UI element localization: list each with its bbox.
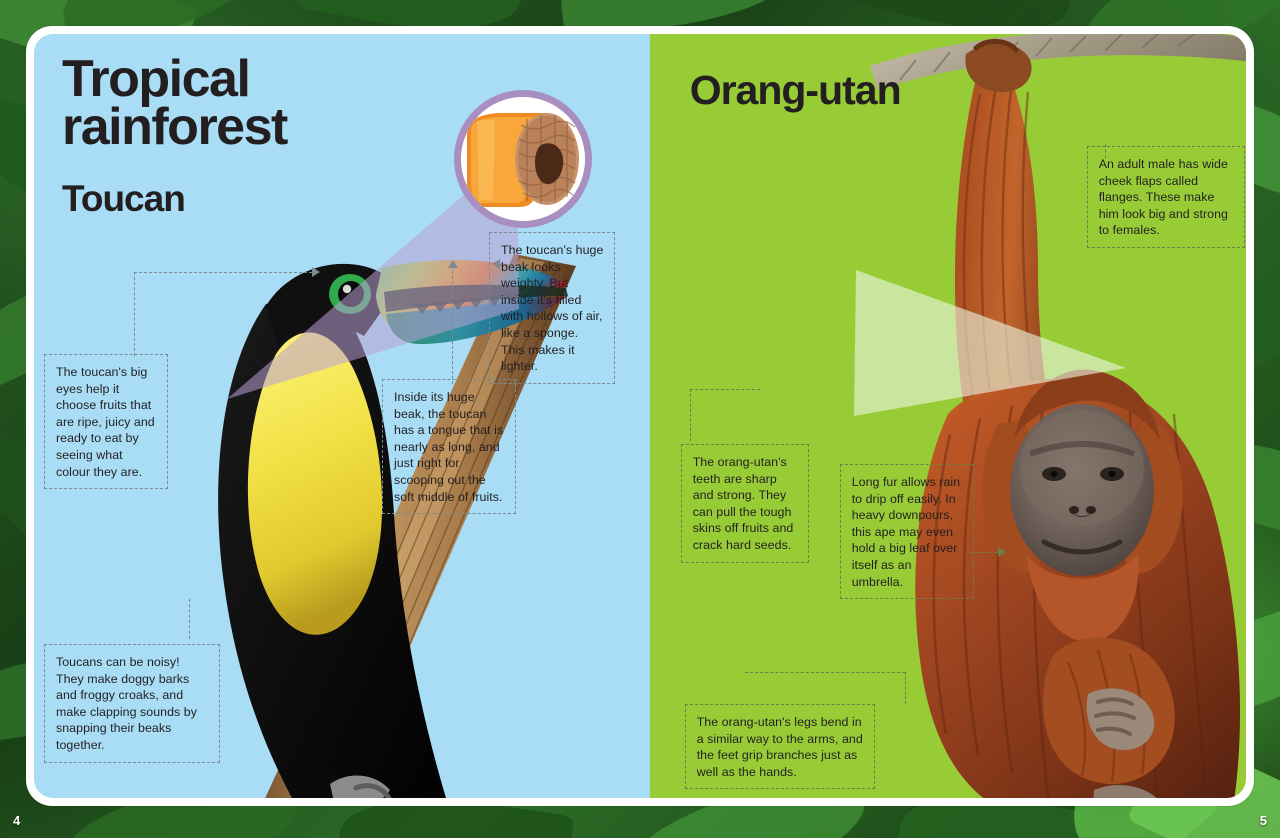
connector-eyes [134,272,312,273]
page-number-left: 4 [13,813,20,828]
callout-text: The toucan's huge beak looks weighty. Bu… [501,243,603,373]
connector-eyes-vertical [134,272,135,356]
callout-text: The orang-utan's legs bend in a similar … [697,715,863,779]
left-page-tropical-rainforest: The toucan's big eyes help it choose fru… [34,34,650,798]
callout-toucan-eyes[interactable]: The toucan's big eyes help it choose fru… [44,354,168,489]
callout-toucan-tongue[interactable]: Inside its huge beak, the toucan has a t… [382,379,516,514]
right-page-orang-utan: An adult male has wide cheek flaps calle… [650,34,1246,798]
connector-tongue-vertical [452,266,453,384]
callout-text: An adult male has wide cheek flaps calle… [1099,157,1228,237]
callout-orangutan-flanges[interactable]: An adult male has wide cheek flaps calle… [1087,146,1245,248]
callout-toucan-beak-weight[interactable]: The toucan's huge beak looks weighty. Bu… [489,232,615,384]
page-subtitle-toucan: Toucan [62,182,185,216]
page-number-right: 5 [1260,813,1267,828]
teeth-magnifier-cone [850,264,1130,434]
beak-cross-section-inset [454,90,592,228]
callout-text: Toucans can be noisy! They make doggy ba… [56,655,197,752]
pages-container: The toucan's big eyes help it choose fru… [34,34,1246,798]
callout-orangutan-legs[interactable]: The orang-utan's legs bend in a similar … [685,704,875,789]
arrowhead-tongue [448,260,458,268]
callout-text: Inside its huge beak, the toucan has a t… [394,390,503,504]
callout-text: The orang-utan's teeth are sharp and str… [693,455,794,552]
callout-text: The toucan's big eyes help it choose fru… [56,365,155,479]
callout-orangutan-teeth[interactable]: The orang-utan's teeth are sharp and str… [681,444,809,563]
book-spread: The toucan's big eyes help it choose fru… [0,0,1280,838]
page-title-orang-utan: Orang-utan [690,72,901,110]
callout-toucan-noise[interactable]: Toucans can be noisy! They make doggy ba… [44,644,220,763]
arrowhead-eyes [312,267,320,277]
callout-orangutan-fur[interactable]: Long fur allows rain to drip off easily.… [840,464,974,599]
connector-teeth [690,389,760,390]
callout-text: Long fur allows rain to drip off easily.… [852,475,960,589]
connector-teeth-vertical [690,389,691,441]
connector-legs-vertical [905,672,906,704]
spread-card: The toucan's big eyes help it choose fru… [26,26,1254,806]
connector-noise-vertical [189,599,190,639]
arrowhead-fur [998,547,1006,557]
connector-legs [745,672,905,673]
connector-fur [970,552,998,553]
